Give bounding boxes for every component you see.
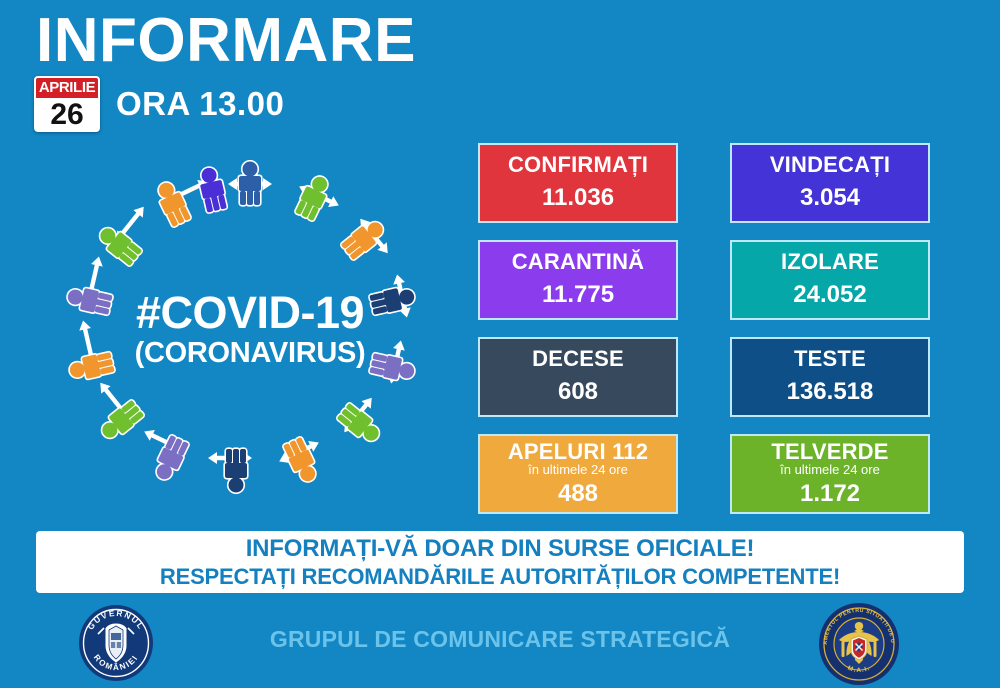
people-circle-svg: [40, 160, 460, 520]
stat-value: 1.172: [800, 480, 860, 509]
stat-card-teste: TESTE 136.518: [730, 337, 930, 417]
stat-value: 488: [558, 480, 598, 509]
stat-value: 3.054: [800, 184, 860, 213]
stat-card-confirmati: CONFIRMAȚI 11.036: [478, 143, 678, 223]
stat-label: CONFIRMAȚI: [508, 153, 648, 178]
official-sources-banner: INFORMAȚI-VĂ DOAR DIN SURSE OFICIALE! RE…: [36, 531, 964, 593]
banner-line-1: INFORMAȚI-VĂ DOAR DIN SURSE OFICIALE!: [246, 535, 755, 563]
stat-value: 608: [558, 378, 598, 407]
date-time-row: APRILIE 26 ORA 13.00: [34, 76, 284, 132]
stat-label: APELURI 112: [508, 440, 648, 465]
stat-card-apeluri-112: APELURI 112 în ultimele 24 ore 488: [478, 434, 678, 514]
stat-label: TELVERDE: [771, 440, 888, 465]
stat-label: VINDECAȚI: [770, 153, 890, 178]
people-circle-icon: #COVID-19 (CORONAVIRUS): [40, 160, 460, 520]
banner-line-2: RESPECTAȚI RECOMANDĂRILE AUTORITĂȚILOR C…: [160, 564, 840, 590]
stat-value: 11.036: [542, 184, 614, 213]
stat-label: CARANTINĂ: [512, 250, 645, 275]
stat-sublabel: în ultimele 24 ore: [780, 463, 880, 477]
stat-value: 136.518: [787, 378, 874, 407]
stat-value: 11.775: [542, 281, 614, 310]
stat-card-decese: DECESE 608: [478, 337, 678, 417]
guvernul-romaniei-seal-icon: GUVERNUL ROMÂNIEI: [78, 604, 154, 682]
person-figures: [66, 162, 417, 493]
calendar-day: 26: [36, 99, 98, 131]
calendar-icon: APRILIE 26: [34, 76, 100, 132]
stat-sublabel: în ultimele 24 ore: [528, 463, 628, 477]
stat-label: TESTE: [794, 347, 866, 372]
dsu-mai-seal-icon: DEPARTAMENTUL PENTRU SITUAȚII DE URGENȚĂ…: [818, 602, 900, 686]
stat-card-telverde: TELVERDE în ultimele 24 ore 1.172: [730, 434, 930, 514]
informare-poster: INFORMARE APRILIE 26 ORA 13.00: [0, 0, 1000, 688]
page-title: INFORMARE: [36, 8, 416, 73]
stat-value: 24.052: [793, 281, 866, 310]
stat-card-grid: CONFIRMAȚI 11.036 VINDECAȚI 3.054 CARANT…: [478, 143, 930, 515]
stat-card-izolare: IZOLARE 24.052: [730, 240, 930, 320]
stat-label: IZOLARE: [781, 250, 879, 275]
stat-label: DECESE: [532, 347, 624, 372]
stat-card-vindecati: VINDECAȚI 3.054: [730, 143, 930, 223]
hour-label: ORA 13.00: [116, 85, 284, 123]
calendar-month: APRILIE: [36, 78, 98, 99]
stat-card-carantina: CARANTINĂ 11.775: [478, 240, 678, 320]
